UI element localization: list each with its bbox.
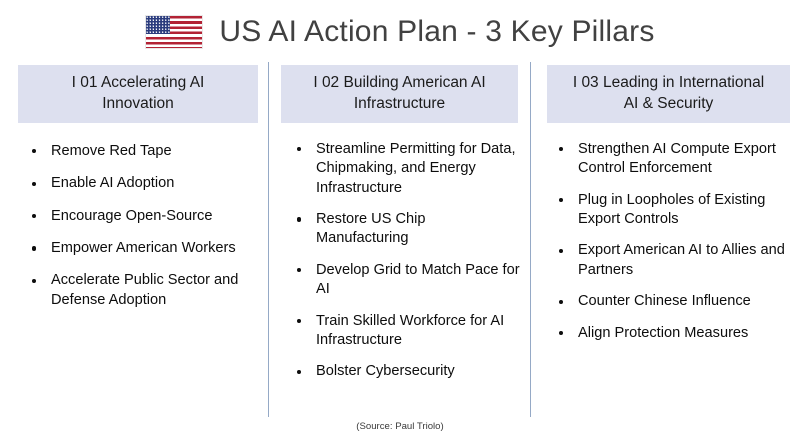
us-flag-icon	[145, 15, 203, 49]
pillar-column-2: I 02 Building American AI Infrastructure…	[268, 62, 530, 417]
list-item: Counter Chinese Influence	[557, 292, 794, 311]
list-item: Develop Grid to Match Pace for AI	[295, 261, 522, 300]
pillar-3-heading-line-1: I 03 Leading in International	[573, 74, 764, 91]
pillar-2-heading-line-2: Infrastructure	[354, 95, 445, 112]
list-item: Train Skilled Workforce for AI Infrastru…	[295, 312, 522, 351]
list-item: Align Protection Measures	[557, 324, 794, 343]
list-item: Remove Red Tape	[30, 142, 262, 161]
pillar-2-bullet-list: Streamline Permitting for Data, Chipmaki…	[295, 140, 522, 382]
pillar-1-header: I 01 Accelerating AI Innovation	[18, 65, 258, 123]
pillar-3-heading-line-2: AI & Security	[624, 95, 714, 112]
list-item: Empower American Workers	[30, 239, 262, 258]
pillar-1-bullet-list: Remove Red Tape Enable AI Adoption Encou…	[30, 142, 262, 310]
list-item: Accelerate Public Sector and Defense Ado…	[30, 271, 262, 310]
pillar-2-header: I 02 Building American AI Infrastructure	[281, 65, 518, 123]
list-item: Enable AI Adoption	[30, 174, 262, 193]
pillar-1-heading-line-1: I 01 Accelerating AI	[72, 74, 205, 91]
list-item: Encourage Open-Source	[30, 207, 262, 226]
list-item: Export American AI to Allies and Partner…	[557, 241, 794, 280]
list-item: Streamline Permitting for Data, Chipmaki…	[295, 140, 522, 198]
list-item: Strengthen AI Compute Export Control Enf…	[557, 140, 794, 179]
pillar-column-1: I 01 Accelerating AI Innovation Remove R…	[0, 62, 268, 417]
slide-title-row: US AI Action Plan - 3 Key Pillars	[0, 8, 800, 56]
pillar-3-bullet-list: Strengthen AI Compute Export Control Enf…	[557, 140, 794, 343]
pillars-container: I 01 Accelerating AI Innovation Remove R…	[0, 62, 800, 417]
pillar-1-heading-line-2: Innovation	[102, 95, 174, 112]
pillar-3-header: I 03 Leading in International AI & Secur…	[547, 65, 790, 123]
source-caption: (Source: Paul Triolo)	[0, 421, 800, 432]
list-item: Restore US Chip Manufacturing	[295, 210, 522, 249]
flag-stars	[146, 16, 170, 34]
page-title: US AI Action Plan - 3 Key Pillars	[219, 15, 654, 49]
pillar-2-heading-line-1: I 02 Building American AI	[313, 74, 485, 91]
list-item: Bolster Cybersecurity	[295, 362, 522, 381]
list-item: Plug in Loopholes of Existing Export Con…	[557, 191, 794, 230]
pillar-column-3: I 03 Leading in International AI & Secur…	[530, 62, 800, 417]
